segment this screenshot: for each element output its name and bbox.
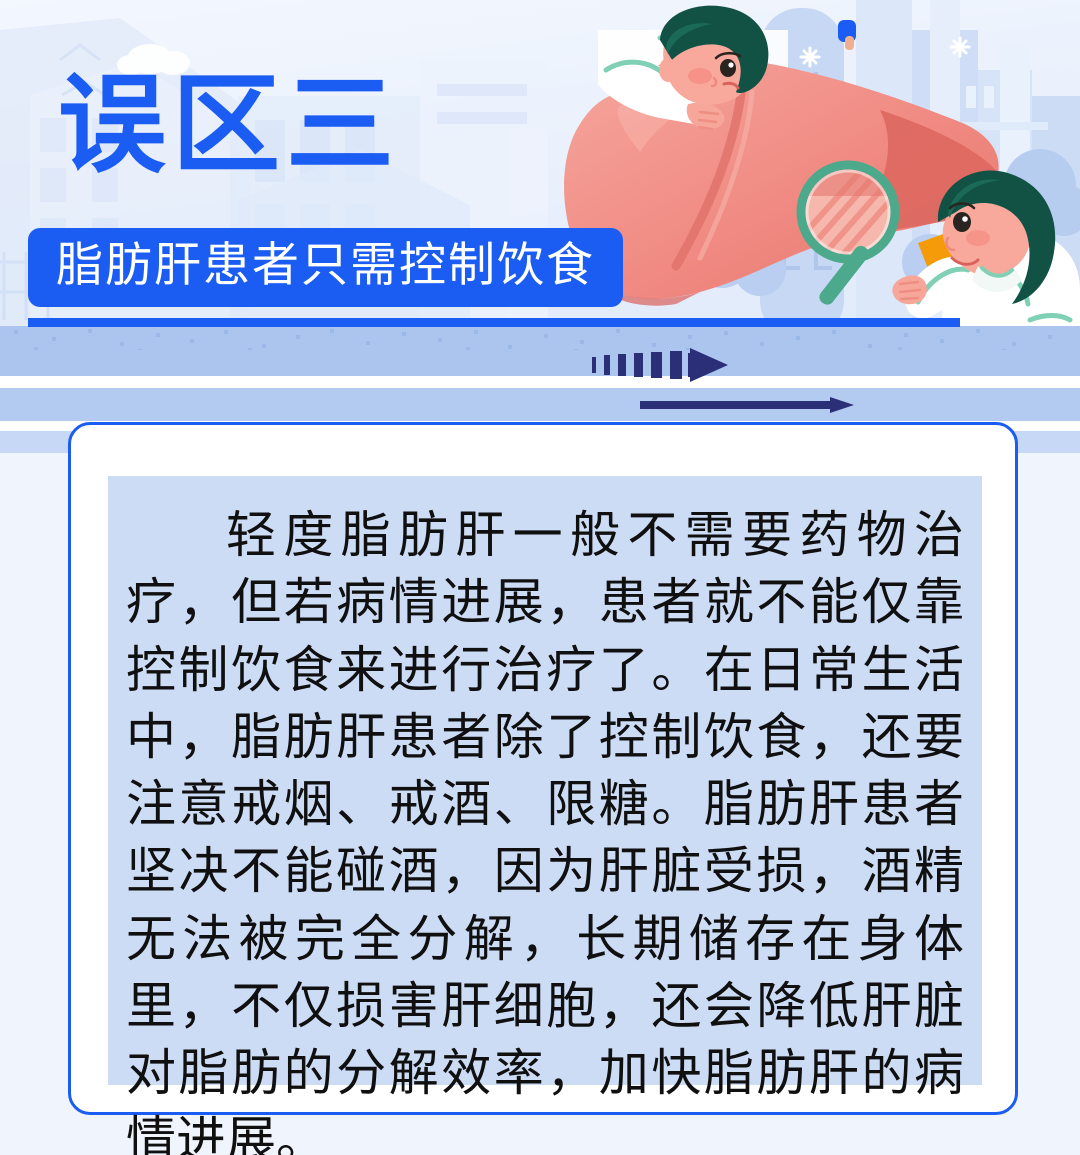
poster-root: 误区三 脂肪肝患者只需控制饮食 — [0, 0, 1080, 1155]
sparkle-icon — [801, 48, 819, 66]
subtitle-banner: 脂肪肝患者只需控制饮食 — [28, 228, 623, 307]
stripe-band-upper — [0, 326, 1080, 376]
content-card: 轻度脂肪肝一般不需要药物治疗，但若病情进展，患者就不能仅靠控制饮食来进行治疗了。… — [68, 422, 1018, 1115]
page-title: 误区三 — [58, 72, 400, 180]
subtitle-text: 脂肪肝患者只需控制饮食 — [56, 241, 595, 292]
stripe-gap-white — [0, 376, 1080, 388]
body-paragraph: 轻度脂肪肝一般不需要药物治疗，但若病情进展，患者就不能仅靠控制饮食来进行治疗了。… — [126, 502, 964, 1155]
stripe-band-lower — [0, 388, 1080, 421]
speckle-texture — [0, 326, 1080, 350]
progress-arrow-line-icon — [640, 395, 860, 415]
blue-rule-divider — [28, 318, 960, 327]
sparkle-icon-2 — [951, 38, 969, 56]
content-panel: 轻度脂肪肝一般不需要药物治疗，但若病情进展，患者就不能仅靠控制饮食来进行治疗了。… — [108, 476, 982, 1085]
progress-arrow-dashed-icon — [592, 345, 762, 385]
